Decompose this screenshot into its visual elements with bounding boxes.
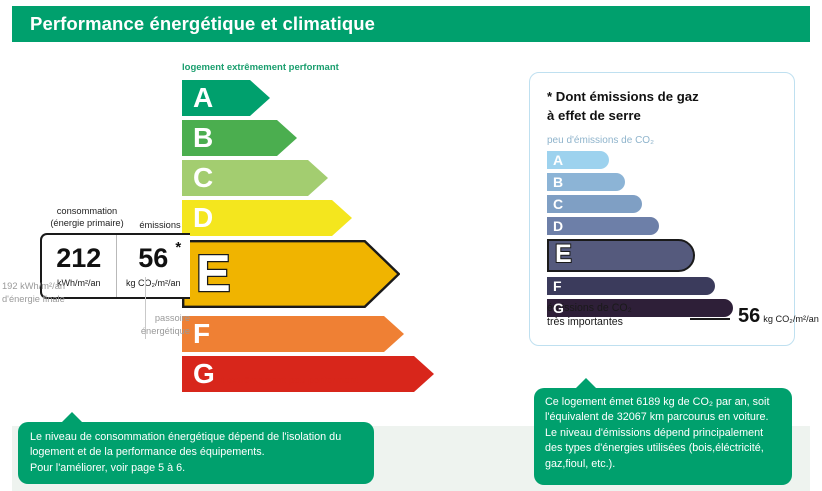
energy-bar-g: G [182,356,434,392]
energy-letter-f: F [193,320,210,348]
ghg-letter-d: D [553,218,563,234]
callout-right-text: Ce logement émet 6189 kg de CO₂ par an, … [545,395,781,472]
ghg-letter-a: A [553,152,563,168]
ghg-value-group: 56kg CO₂/m²/an [738,305,819,328]
page-title: Performance énergétique et climatique [30,13,375,35]
ghg-bar-a: A [547,151,779,169]
ghg-letter-c: C [553,196,563,212]
ghg-bar-shape-d [547,217,659,235]
ghg-panel: * Dont émissions de gaz à effet de serre… [529,72,795,346]
energy-letter-g: G [193,360,215,388]
energy-scale: logement extrêmement performant ABCDEFG … [182,62,492,387]
energy-bar-d: D [182,200,352,236]
dpe-page: Performance énergétique et climatique lo… [0,0,822,491]
right-margin [810,0,822,491]
ghg-bar-f: F [547,277,779,295]
energy-letter-b: B [193,124,213,152]
energy-bar-shape-b: B [182,120,297,156]
energy-bar-shape-c: C [182,160,328,196]
ghg-bar-e: E [547,239,779,272]
emissions-value: 56 [138,243,168,273]
page-header: Performance énergétique et climatique [12,6,810,42]
emissions-value-wrap: 56 * [138,245,168,272]
ghg-bar-b: B [547,173,779,191]
energy-letter-a: A [193,84,213,112]
callout-left-text: Le niveau de consommation énergétique dé… [30,430,362,476]
energy-letter-e: E [196,248,231,300]
emissions-unit: kg CO₂/m²/an [126,278,181,288]
callout-right-notch [576,378,596,388]
ghg-scale-rows: ABCDEFG [547,151,779,321]
ghg-letter-e: E [555,240,572,269]
energy-letter-d: D [193,204,213,232]
energy-bar-shape-a: A [182,80,270,116]
energy-bar-f: F [182,316,404,352]
energy-bar-shape-f: F [182,316,404,352]
ghg-top-label: peu d'émissions de CO₂ [547,135,654,146]
ghg-value-unit: kg CO₂/m²/an [763,314,819,324]
left-margin [0,0,12,491]
callout-left-notch [62,412,82,422]
ghg-letter-b: B [553,174,563,190]
energy-bar-b: B [182,120,297,156]
emissions-asterisk: * [175,240,181,255]
ghg-letter-f: F [553,278,562,294]
ghg-bar-shape-f [547,277,715,295]
consumption-header-emissions: émissions [132,219,188,231]
ghg-bar-c: C [547,195,779,213]
ghg-letter-g: G [553,300,564,316]
ghg-bar-d: D [547,217,779,235]
passoire-note: passoire énergétique [98,312,190,338]
energy-bar-c: C [182,160,328,196]
consumption-header-primary: consommation (énergie primaire) [44,205,130,229]
ghg-panel-title: * Dont émissions de gaz à effet de serre [547,87,777,125]
emissions-cell: 56 * kg CO₂/m²/an [116,235,191,297]
energy-bar-shape-g: G [182,356,434,392]
callout-energy-advice: Le niveau de consommation énergétique dé… [18,422,374,484]
energy-bar-a: A [182,80,270,116]
primary-energy-value: 212 [56,245,101,272]
energy-bar-shape-e: E [182,240,400,308]
ghg-bottom-label: émissions de CO₂ très importantes [547,301,747,329]
consumption-headers: consommation (énergie primaire) émission… [40,205,190,233]
energy-bar-e: E [182,240,400,308]
energy-letter-c: C [193,164,213,192]
final-energy-note: 192 kWh/m²/an d'énergie finale [2,280,112,306]
callout-ghg-advice: Ce logement émet 6189 kg de CO₂ par an, … [534,388,792,485]
energy-bar-shape-d: D [182,200,352,236]
scale-top-label: logement extrêmement performant [182,62,339,73]
